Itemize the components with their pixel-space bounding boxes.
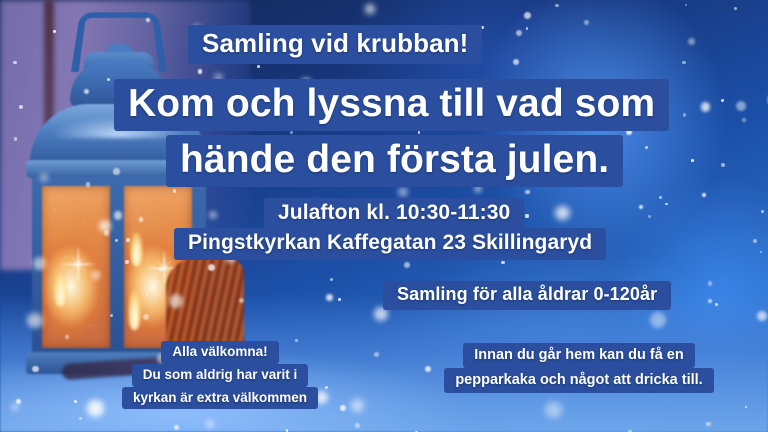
headline-line-2: hände den första julen.	[166, 135, 623, 187]
headline-line-1: Kom och lyssna till vad som	[114, 79, 669, 131]
pine-cone-left	[0, 280, 76, 376]
kicker-text: Samling vid krubban!	[188, 25, 482, 64]
event-location: Pingstkyrkan Kaffegatan 23 Skillingaryd	[174, 228, 606, 260]
refreshments-note: Innan du går hem kan du få en pepparkaka…	[419, 343, 739, 393]
welcome-line-1: Alla välkomna!	[161, 341, 278, 364]
christmas-event-poster: Samling vid krubban! Kom och lyssna till…	[0, 0, 768, 432]
age-range-note: Samling för alla åldrar 0-120år	[383, 281, 671, 310]
welcome-note: Alla välkomna! Du som aldrig har varit i…	[104, 341, 336, 409]
welcome-line-3: kyrkan är extra välkommen	[122, 387, 318, 410]
candle-flame	[128, 290, 141, 330]
welcome-line-2: Du som aldrig har varit i	[132, 364, 309, 387]
refreshments-line-2: pepparkaka och något att dricka till.	[444, 368, 713, 393]
event-time: Julafton kl. 10:30-11:30	[264, 198, 524, 230]
candle-flame	[130, 232, 143, 266]
refreshments-line-1: Innan du går hem kan du få en	[463, 343, 694, 368]
